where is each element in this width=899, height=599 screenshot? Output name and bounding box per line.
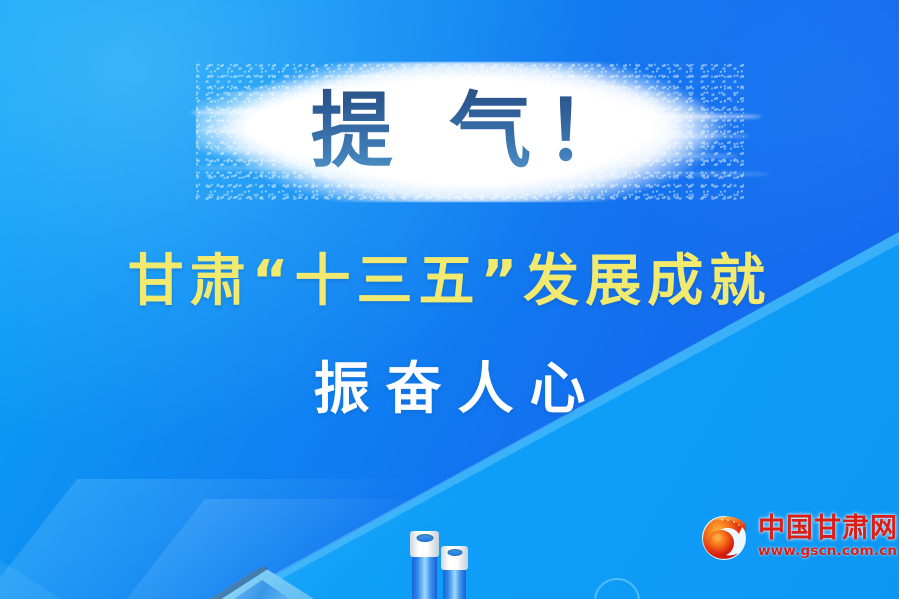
page-title: 提 气！ [196,62,744,202]
subtitle-text: 甘肃“十三五”发展成就 [0,236,899,317]
tube-body [412,551,437,599]
poster-canvas: 提 气！ 甘肃“十三五”发展成就 振奋人心 [0,0,899,599]
gansu-net-swirl-mark [698,510,752,564]
blue-tube-tall [412,531,437,599]
tube-opening [416,534,433,542]
logo-site-name: 中国甘肃网 [758,515,898,542]
tagline-text: 振奋人心 [0,344,899,425]
site-logo[interactable]: 中国甘肃网 www.gscn.com.cn [698,506,884,568]
tube-opening [447,549,462,556]
logo-text-block: 中国甘肃网 www.gscn.com.cn [758,515,898,559]
logo-site-url: www.gscn.com.cn [758,545,898,559]
light-blue-roof-shape [186,566,338,599]
blue-tube-short [443,546,466,599]
